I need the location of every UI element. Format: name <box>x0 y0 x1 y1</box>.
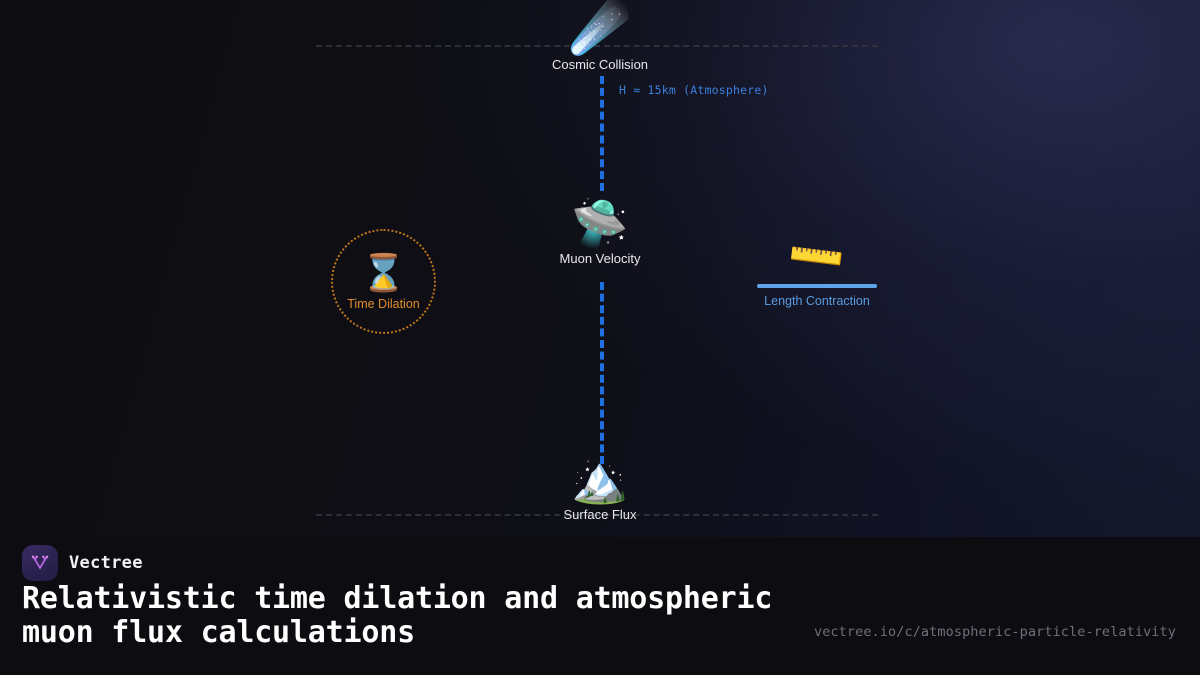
altitude-annotation: H ≈ 15km (Atmosphere) <box>619 83 769 97</box>
node-label-time-dilation: Time Dilation <box>347 297 419 311</box>
node-label-surface-flux: Surface Flux <box>564 507 637 522</box>
screenshot-root: H ≈ 15km (Atmosphere) ☄️ Cosmic Collisio… <box>0 0 1200 675</box>
node-cosmic-collision[interactable]: ☄️ Cosmic Collision <box>520 0 680 72</box>
node-label-muon-velocity: Muon Velocity <box>560 251 641 266</box>
ruler-icon: 📏 <box>782 222 852 292</box>
node-label-cosmic-collision: Cosmic Collision <box>552 57 648 72</box>
vectree-logo <box>22 545 58 581</box>
brand-name: Vectree <box>69 553 143 573</box>
diagram-canvas: H ≈ 15km (Atmosphere) ☄️ Cosmic Collisio… <box>0 0 1200 537</box>
footer-url: vectree.io/c/atmospheric-particle-relati… <box>814 624 1176 640</box>
snow-capped-mountain-icon: 🏔️ <box>571 452 628 506</box>
comet-icon: ☄️ <box>569 0 631 56</box>
node-surface-flux[interactable]: 🏔️ Surface Flux <box>520 452 680 522</box>
brand-block: Vectree <box>22 545 143 581</box>
node-time-dilation[interactable]: ⌛ Time Dilation <box>331 229 436 334</box>
node-muon-velocity[interactable]: 🛸 Muon Velocity <box>520 196 680 266</box>
flying-saucer-icon: 🛸 <box>571 196 628 250</box>
hourglass-icon: ⌛ <box>361 253 406 295</box>
footer-bar: Vectree Relativistic time dilation and a… <box>0 537 1200 675</box>
altitude-axis-upper <box>600 76 604 191</box>
page-title: Relativistic time dilation and atmospher… <box>22 582 812 650</box>
node-length-contraction[interactable]: 📏 Length Contraction <box>737 232 897 308</box>
altitude-axis-lower <box>600 282 604 464</box>
node-label-length-contraction: Length Contraction <box>764 294 870 308</box>
